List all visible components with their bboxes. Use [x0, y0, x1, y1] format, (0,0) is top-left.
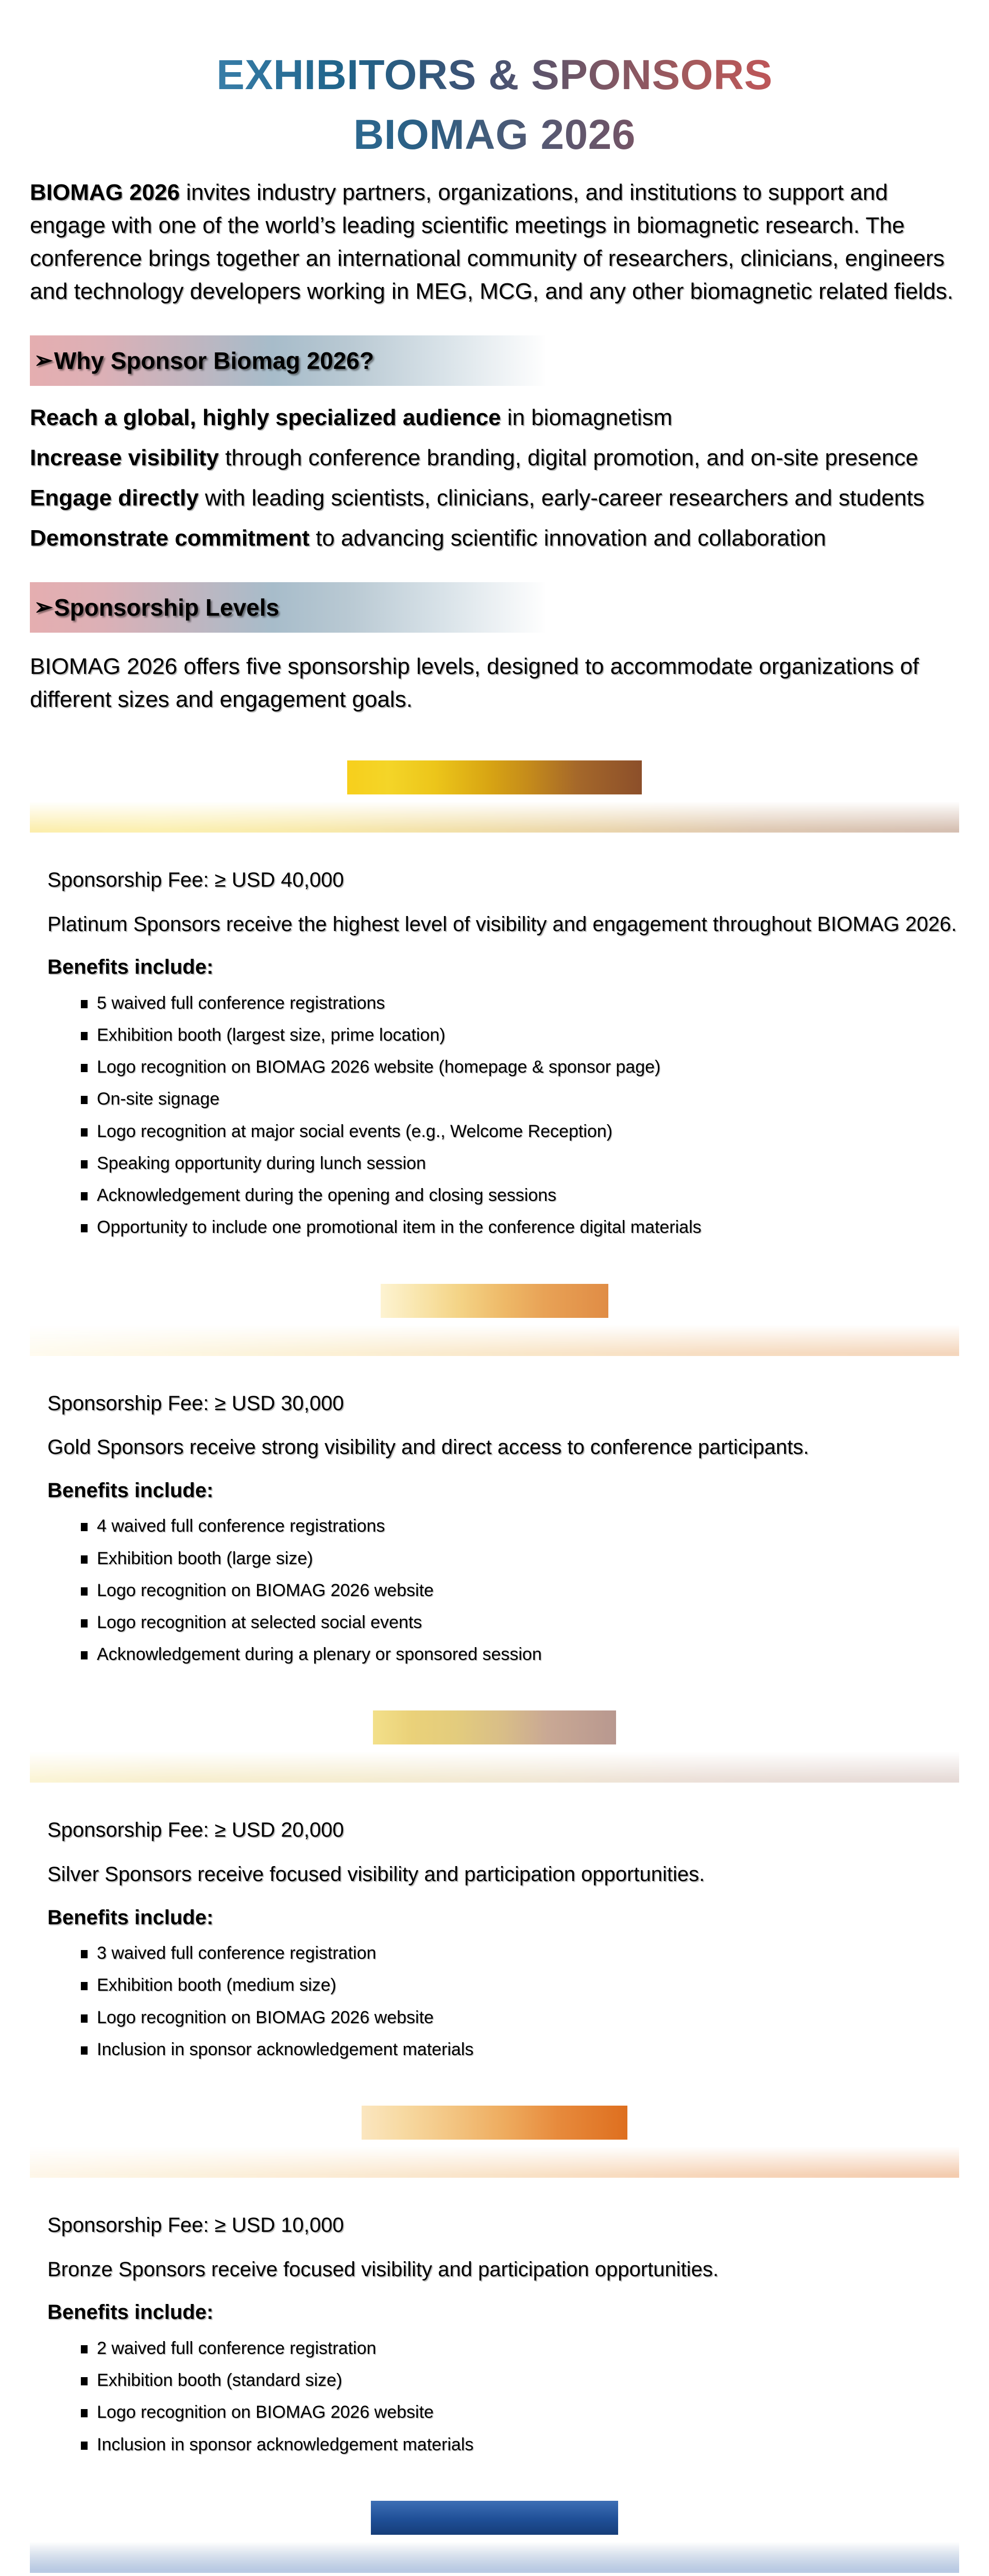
list-item: Logo recognition on BIOMAG 2026 website … [79, 1056, 959, 1079]
tier-fee-gold: Sponsorship Fee: ≥ USD 30,000 [47, 1389, 959, 1419]
list-item: Logo recognition on BIOMAG 2026 website [79, 1579, 959, 1602]
tier-description-silver: Silver Sponsors receive focused visibili… [47, 1860, 959, 1890]
intro-paragraph: BIOMAG 2026 invites industry partners, o… [30, 176, 959, 309]
tier-title-silver: Silver Sponsor [373, 1710, 617, 1744]
list-item: Exhibition booth (medium size) [79, 1974, 959, 1997]
list-item: 2 waived full conference registration [79, 2337, 959, 2360]
reason-lead: Demonstrate commitment [30, 526, 310, 551]
why-sponsor-heading: Why Sponsor Biomag 2026? [54, 347, 374, 375]
tier-heading-bronze: Bronze Sponsor Bronze Sponsor [30, 2106, 959, 2196]
benefits-label-platinum: Benefits include: [47, 953, 959, 982]
list-item: Inclusion in sponsor acknowledgement mat… [79, 2038, 959, 2061]
benefits-list-gold: 4 waived full conference registrations E… [47, 1515, 959, 1666]
tier-title-bronze: Bronze Sponsor [362, 2106, 628, 2140]
tier-description-gold: Gold Sponsors receive strong visibility … [47, 1433, 959, 1463]
tier-heading-silver: Silver Sponsor Silver Sponsor [30, 1710, 959, 1801]
benefits-list-bronze: 2 waived full conference registration Ex… [47, 2337, 959, 2456]
list-item: Acknowledgement during a plenary or spon… [79, 1643, 959, 1666]
tier-fee-silver: Sponsorship Fee: ≥ USD 20,000 [47, 1816, 959, 1845]
tier-body-bronze: Sponsorship Fee: ≥ USD 10,000 Bronze Spo… [30, 2211, 959, 2456]
tier-fee-bronze: Sponsorship Fee: ≥ USD 10,000 [47, 2211, 959, 2241]
reason-item: Demonstrate commitment to advancing scie… [30, 522, 959, 555]
page-title-block: EXHIBITORS & SPONSORS BIOMAG 2026 [30, 0, 959, 159]
list-item: Logo recognition on BIOMAG 2026 website [79, 2006, 959, 2029]
tier-body-silver: Sponsorship Fee: ≥ USD 20,000 Silver Spo… [30, 1816, 959, 2061]
reason-lead: Reach a global, highly specialized audie… [30, 405, 501, 430]
reason-rest: in biomagnetism [501, 405, 673, 430]
reason-lead: Increase visibility [30, 445, 219, 470]
benefits-list-silver: 3 waived full conference registration Ex… [47, 1942, 959, 2061]
reason-lead: Engage directly [30, 485, 199, 511]
sponsorship-document: EXHIBITORS & SPONSORS BIOMAG 2026 BIOMAG… [0, 0, 989, 2576]
list-item: Logo recognition on BIOMAG 2026 website [79, 2401, 959, 2424]
tier-heading-gold: Gold Sponsor Gold Sponsor [30, 1284, 959, 1375]
list-item: 4 waived full conference registrations [79, 1515, 959, 1538]
tier-title-silver-reflection: Silver Sponsor [30, 1749, 959, 1783]
reason-item: Engage directly with leading scientists,… [30, 482, 959, 515]
benefits-label-gold: Benefits include: [47, 1476, 959, 1506]
tier-description-platinum: Platinum Sponsors receive the highest le… [47, 910, 959, 940]
list-item: Inclusion in sponsor acknowledgement mat… [79, 2433, 959, 2456]
arrow-bullet-icon: ➢ [34, 596, 53, 619]
sponsorship-levels-band: ➢ Sponsorship Levels [30, 582, 545, 633]
sponsorship-levels-heading: Sponsorship Levels [54, 594, 279, 621]
list-item: Exhibition booth (standard size) [79, 2369, 959, 2392]
list-item: Logo recognition at major social events … [79, 1120, 959, 1143]
tier-title-exhibition-only-reflection: Exhibition only [30, 2539, 959, 2573]
tier-body-gold: Sponsorship Fee: ≥ USD 30,000 Gold Spons… [30, 1389, 959, 1667]
tier-heading-platinum: Platinum Sponsor Platinum Sponsor [30, 760, 959, 851]
tier-fee-platinum: Sponsorship Fee: ≥ USD 40,000 [47, 866, 959, 895]
tier-title-gold: Gold Sponsor [381, 1284, 608, 1318]
tier-title-platinum: Platinum Sponsor [347, 760, 642, 794]
list-item: 5 waived full conference registrations [79, 992, 959, 1015]
tier-heading-exhibition-only: Exhibition only Exhibition only [30, 2501, 959, 2576]
tier-title-gold-reflection: Gold Sponsor [30, 1322, 959, 1356]
page-title-line2: BIOMAG 2026 [30, 111, 959, 159]
page-title-line1: EXHIBITORS & SPONSORS [30, 52, 959, 99]
tier-title-bronze-reflection: Bronze Sponsor [30, 2144, 959, 2178]
intro-lead: BIOMAG 2026 [30, 180, 180, 205]
tier-title-exhibition-only: Exhibition only [371, 2501, 619, 2535]
tier-title-platinum-reflection: Platinum Sponsor [30, 799, 959, 833]
list-item: Exhibition booth (large size) [79, 1547, 959, 1570]
why-sponsor-band: ➢ Why Sponsor Biomag 2026? [30, 335, 545, 386]
benefits-label-bronze: Benefits include: [47, 2298, 959, 2328]
tier-description-bronze: Bronze Sponsors receive focused visibili… [47, 2255, 959, 2285]
reason-rest: through conference branding, digital pro… [219, 445, 918, 470]
list-item: Speaking opportunity during lunch sessio… [79, 1152, 959, 1175]
benefits-list-platinum: 5 waived full conference registrations E… [47, 992, 959, 1240]
reason-item: Increase visibility through conference b… [30, 442, 959, 474]
reason-rest: to advancing scientific innovation and c… [310, 526, 826, 551]
list-item: Logo recognition at selected social even… [79, 1611, 959, 1634]
reason-item: Reach a global, highly specialized audie… [30, 401, 959, 434]
why-sponsor-reasons: Reach a global, highly specialized audie… [30, 401, 959, 555]
sponsorship-levels-intro: BIOMAG 2026 offers five sponsorship leve… [30, 650, 959, 716]
reason-rest: with leading scientists, clinicians, ear… [199, 485, 925, 511]
benefits-label-silver: Benefits include: [47, 1903, 959, 1933]
arrow-bullet-icon: ➢ [34, 349, 53, 372]
list-item: Exhibition booth (largest size, prime lo… [79, 1024, 959, 1047]
list-item: On-site signage [79, 1088, 959, 1111]
tier-body-platinum: Sponsorship Fee: ≥ USD 40,000 Platinum S… [30, 866, 959, 1240]
list-item: 3 waived full conference registration [79, 1942, 959, 1965]
list-item: Opportunity to include one promotional i… [79, 1216, 959, 1239]
list-item: Acknowledgement during the opening and c… [79, 1184, 959, 1207]
